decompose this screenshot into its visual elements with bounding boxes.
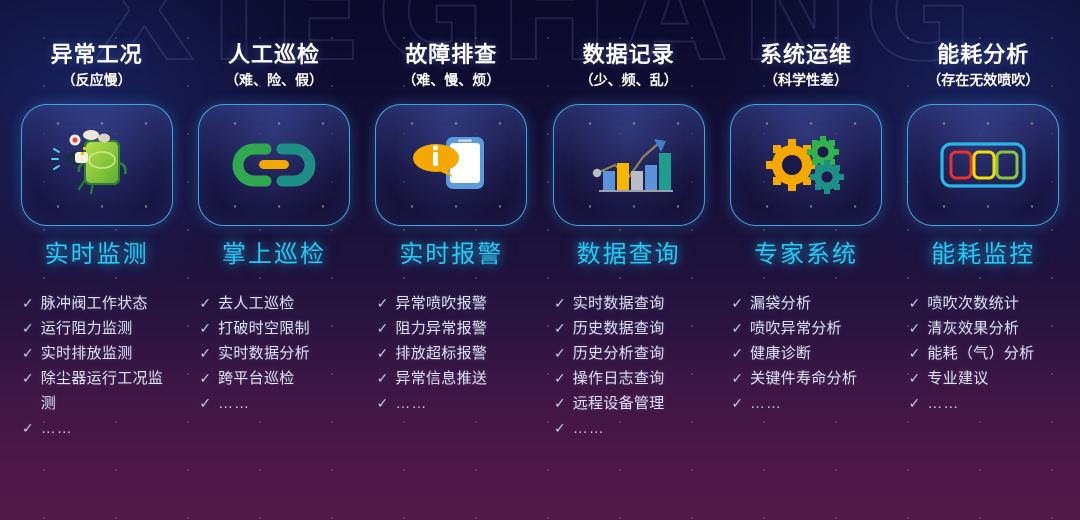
- check-icon: ✓: [909, 391, 921, 416]
- list-item: ✓……: [22, 416, 185, 441]
- list-item: ✓远程设备管理: [554, 391, 717, 416]
- check-icon: ✓: [22, 316, 34, 341]
- list-item: ✓阻力异常报警: [377, 316, 540, 341]
- column-3-title: 故障排查: [402, 42, 500, 68]
- list-item: ✓跨平台巡检: [199, 366, 362, 391]
- column-6-card[interactable]: [907, 104, 1059, 226]
- column-1-subtitle: （反应慢）: [51, 71, 143, 89]
- column-3-subtitle: （难、慢、烦）: [402, 71, 500, 89]
- column-5-header: 系统运维 （科学性差）: [760, 42, 852, 89]
- check-icon: ✓: [199, 341, 211, 366]
- column-2-card-label: 掌上巡检: [222, 234, 326, 269]
- check-icon: ✓: [909, 291, 921, 316]
- column-2-bullets: ✓去人工巡检 ✓打破时空限制 ✓实时数据分析 ✓跨平台巡检 ✓……: [185, 291, 362, 416]
- column-2-subtitle: （难、险、假）: [225, 71, 323, 89]
- list-item: ✓打破时空限制: [199, 316, 362, 341]
- column-1: 异常工况 （反应慢）: [8, 0, 185, 520]
- column-2-header: 人工巡检 （难、险、假）: [225, 42, 323, 89]
- check-icon: ✓: [377, 391, 389, 416]
- column-4: 数据记录 （少、频、乱）: [540, 0, 717, 520]
- list-item: ✓能耗（气）分析: [909, 341, 1072, 366]
- column-6-header: 能耗分析 （存在无效喷吹）: [927, 42, 1039, 89]
- check-icon: ✓: [377, 341, 389, 366]
- list-item: ✓去人工巡检: [199, 291, 362, 316]
- list-item: ✓……: [199, 391, 362, 416]
- column-1-title: 异常工况: [51, 42, 143, 68]
- column-3-card-label: 实时报警: [399, 234, 503, 269]
- check-icon: ✓: [377, 316, 389, 341]
- column-3-header: 故障排查 （难、慢、烦）: [402, 42, 500, 89]
- column-3-card[interactable]: [375, 104, 527, 226]
- list-item: ✓喷吹异常分析: [731, 316, 894, 341]
- column-4-card-label: 数据查询: [577, 234, 681, 269]
- check-icon: ✓: [377, 291, 389, 316]
- list-item: ✓……: [731, 391, 894, 416]
- check-icon: ✓: [909, 341, 921, 366]
- list-item: ✓健康诊断: [731, 341, 894, 366]
- check-icon: ✓: [22, 341, 34, 366]
- column-5-bullets: ✓漏袋分析 ✓喷吹异常分析 ✓健康诊断 ✓关键件寿命分析 ✓……: [717, 291, 894, 416]
- list-item: ✓操作日志查询: [554, 366, 717, 391]
- list-item: ✓实时数据查询: [554, 291, 717, 316]
- check-icon: ✓: [377, 366, 389, 391]
- gears-icon: [758, 129, 854, 201]
- list-item: ✓清灰效果分析: [909, 316, 1072, 341]
- check-icon: ✓: [199, 291, 211, 316]
- column-1-header: 异常工况 （反应慢）: [51, 42, 143, 89]
- list-item: ✓排放超标报警: [377, 341, 540, 366]
- check-icon: ✓: [199, 366, 211, 391]
- column-1-card-label: 实时监测: [45, 234, 149, 269]
- column-5-title: 系统运维: [760, 42, 852, 68]
- column-2-card[interactable]: [198, 104, 350, 226]
- column-2: 人工巡检 （难、险、假） 掌上巡检 ✓去人工巡检 ✓打破时空限制 ✓实时数据分析…: [185, 0, 362, 520]
- check-icon: ✓: [731, 291, 743, 316]
- check-icon: ✓: [554, 291, 566, 316]
- check-icon: ✓: [909, 316, 921, 341]
- column-6-card-label: 能耗监控: [931, 234, 1035, 269]
- check-icon: ✓: [199, 391, 211, 416]
- check-icon: ✓: [554, 366, 566, 391]
- check-icon: ✓: [909, 366, 921, 391]
- check-icon: ✓: [554, 316, 566, 341]
- column-3-bullets: ✓异常喷吹报警 ✓阻力异常报警 ✓排放超标报警 ✓异常信息推送 ✓……: [363, 291, 540, 416]
- list-item: ✓……: [909, 391, 1072, 416]
- check-icon: ✓: [554, 416, 566, 441]
- column-2-title: 人工巡检: [225, 42, 323, 68]
- column-6-title: 能耗分析: [927, 42, 1039, 68]
- check-icon: ✓: [22, 366, 34, 391]
- check-icon: ✓: [731, 366, 743, 391]
- check-icon: ✓: [199, 316, 211, 341]
- column-4-title: 数据记录: [580, 42, 678, 68]
- list-item: ✓历史数据查询: [554, 316, 717, 341]
- check-icon: ✓: [731, 341, 743, 366]
- list-item: ✓喷吹次数统计: [909, 291, 1072, 316]
- list-item: ✓运行阻力监测: [22, 316, 185, 341]
- battery-cells-icon: [935, 129, 1031, 201]
- list-item: ✓实时排放监测: [22, 341, 185, 366]
- list-item: ✓脉冲阀工作状态: [22, 291, 185, 316]
- check-icon: ✓: [554, 391, 566, 416]
- bar-chart-trend-icon: [581, 129, 677, 201]
- phone-megaphone-icon: [49, 129, 145, 201]
- list-item: ✓除尘器运行工况监测: [22, 366, 172, 416]
- list-item: ✓实时数据分析: [199, 341, 362, 366]
- list-item: ✓关键件寿命分析: [731, 366, 894, 391]
- column-1-card[interactable]: [21, 104, 173, 226]
- poster-canvas: XIEGHANG 异常工况 （反应慢）: [0, 0, 1080, 520]
- list-item: ✓……: [377, 391, 540, 416]
- check-icon: ✓: [22, 416, 34, 441]
- column-4-subtitle: （少、频、乱）: [580, 71, 678, 89]
- column-5: 系统运维 （科学性差）: [717, 0, 894, 520]
- column-6: 能耗分析 （存在无效喷吹） 能耗监控 ✓喷吹次数统计 ✓清灰效果分析 ✓能耗（气…: [895, 0, 1072, 520]
- list-item: ✓历史分析查询: [554, 341, 717, 366]
- column-3: 故障排查 （难、慢、烦） 实时报警 ✓: [363, 0, 540, 520]
- column-4-card[interactable]: [553, 104, 705, 226]
- list-item: ✓专业建议: [909, 366, 1072, 391]
- column-5-card-label: 专家系统: [754, 234, 858, 269]
- column-6-bullets: ✓喷吹次数统计 ✓清灰效果分析 ✓能耗（气）分析 ✓专业建议 ✓……: [895, 291, 1072, 416]
- columns-container: 异常工况 （反应慢）: [0, 0, 1080, 520]
- column-5-subtitle: （科学性差）: [760, 71, 852, 89]
- check-icon: ✓: [554, 341, 566, 366]
- check-icon: ✓: [22, 291, 34, 316]
- check-icon: ✓: [731, 391, 743, 416]
- column-6-subtitle: （存在无效喷吹）: [927, 71, 1039, 89]
- info-bubble-phone-icon: [403, 129, 499, 201]
- list-item: ✓异常信息推送: [377, 366, 540, 391]
- check-icon: ✓: [731, 316, 743, 341]
- list-item: ✓漏袋分析: [731, 291, 894, 316]
- list-item: ✓异常喷吹报警: [377, 291, 540, 316]
- list-item: ✓……: [554, 416, 717, 441]
- column-4-bullets: ✓实时数据查询 ✓历史数据查询 ✓历史分析查询 ✓操作日志查询 ✓远程设备管理 …: [540, 291, 717, 441]
- column-4-header: 数据记录 （少、频、乱）: [580, 42, 678, 89]
- column-1-bullets: ✓脉冲阀工作状态 ✓运行阻力监测 ✓实时排放监测 ✓除尘器运行工况监测 ✓……: [8, 291, 185, 441]
- column-5-card[interactable]: [730, 104, 882, 226]
- chain-link-icon: [226, 129, 322, 201]
